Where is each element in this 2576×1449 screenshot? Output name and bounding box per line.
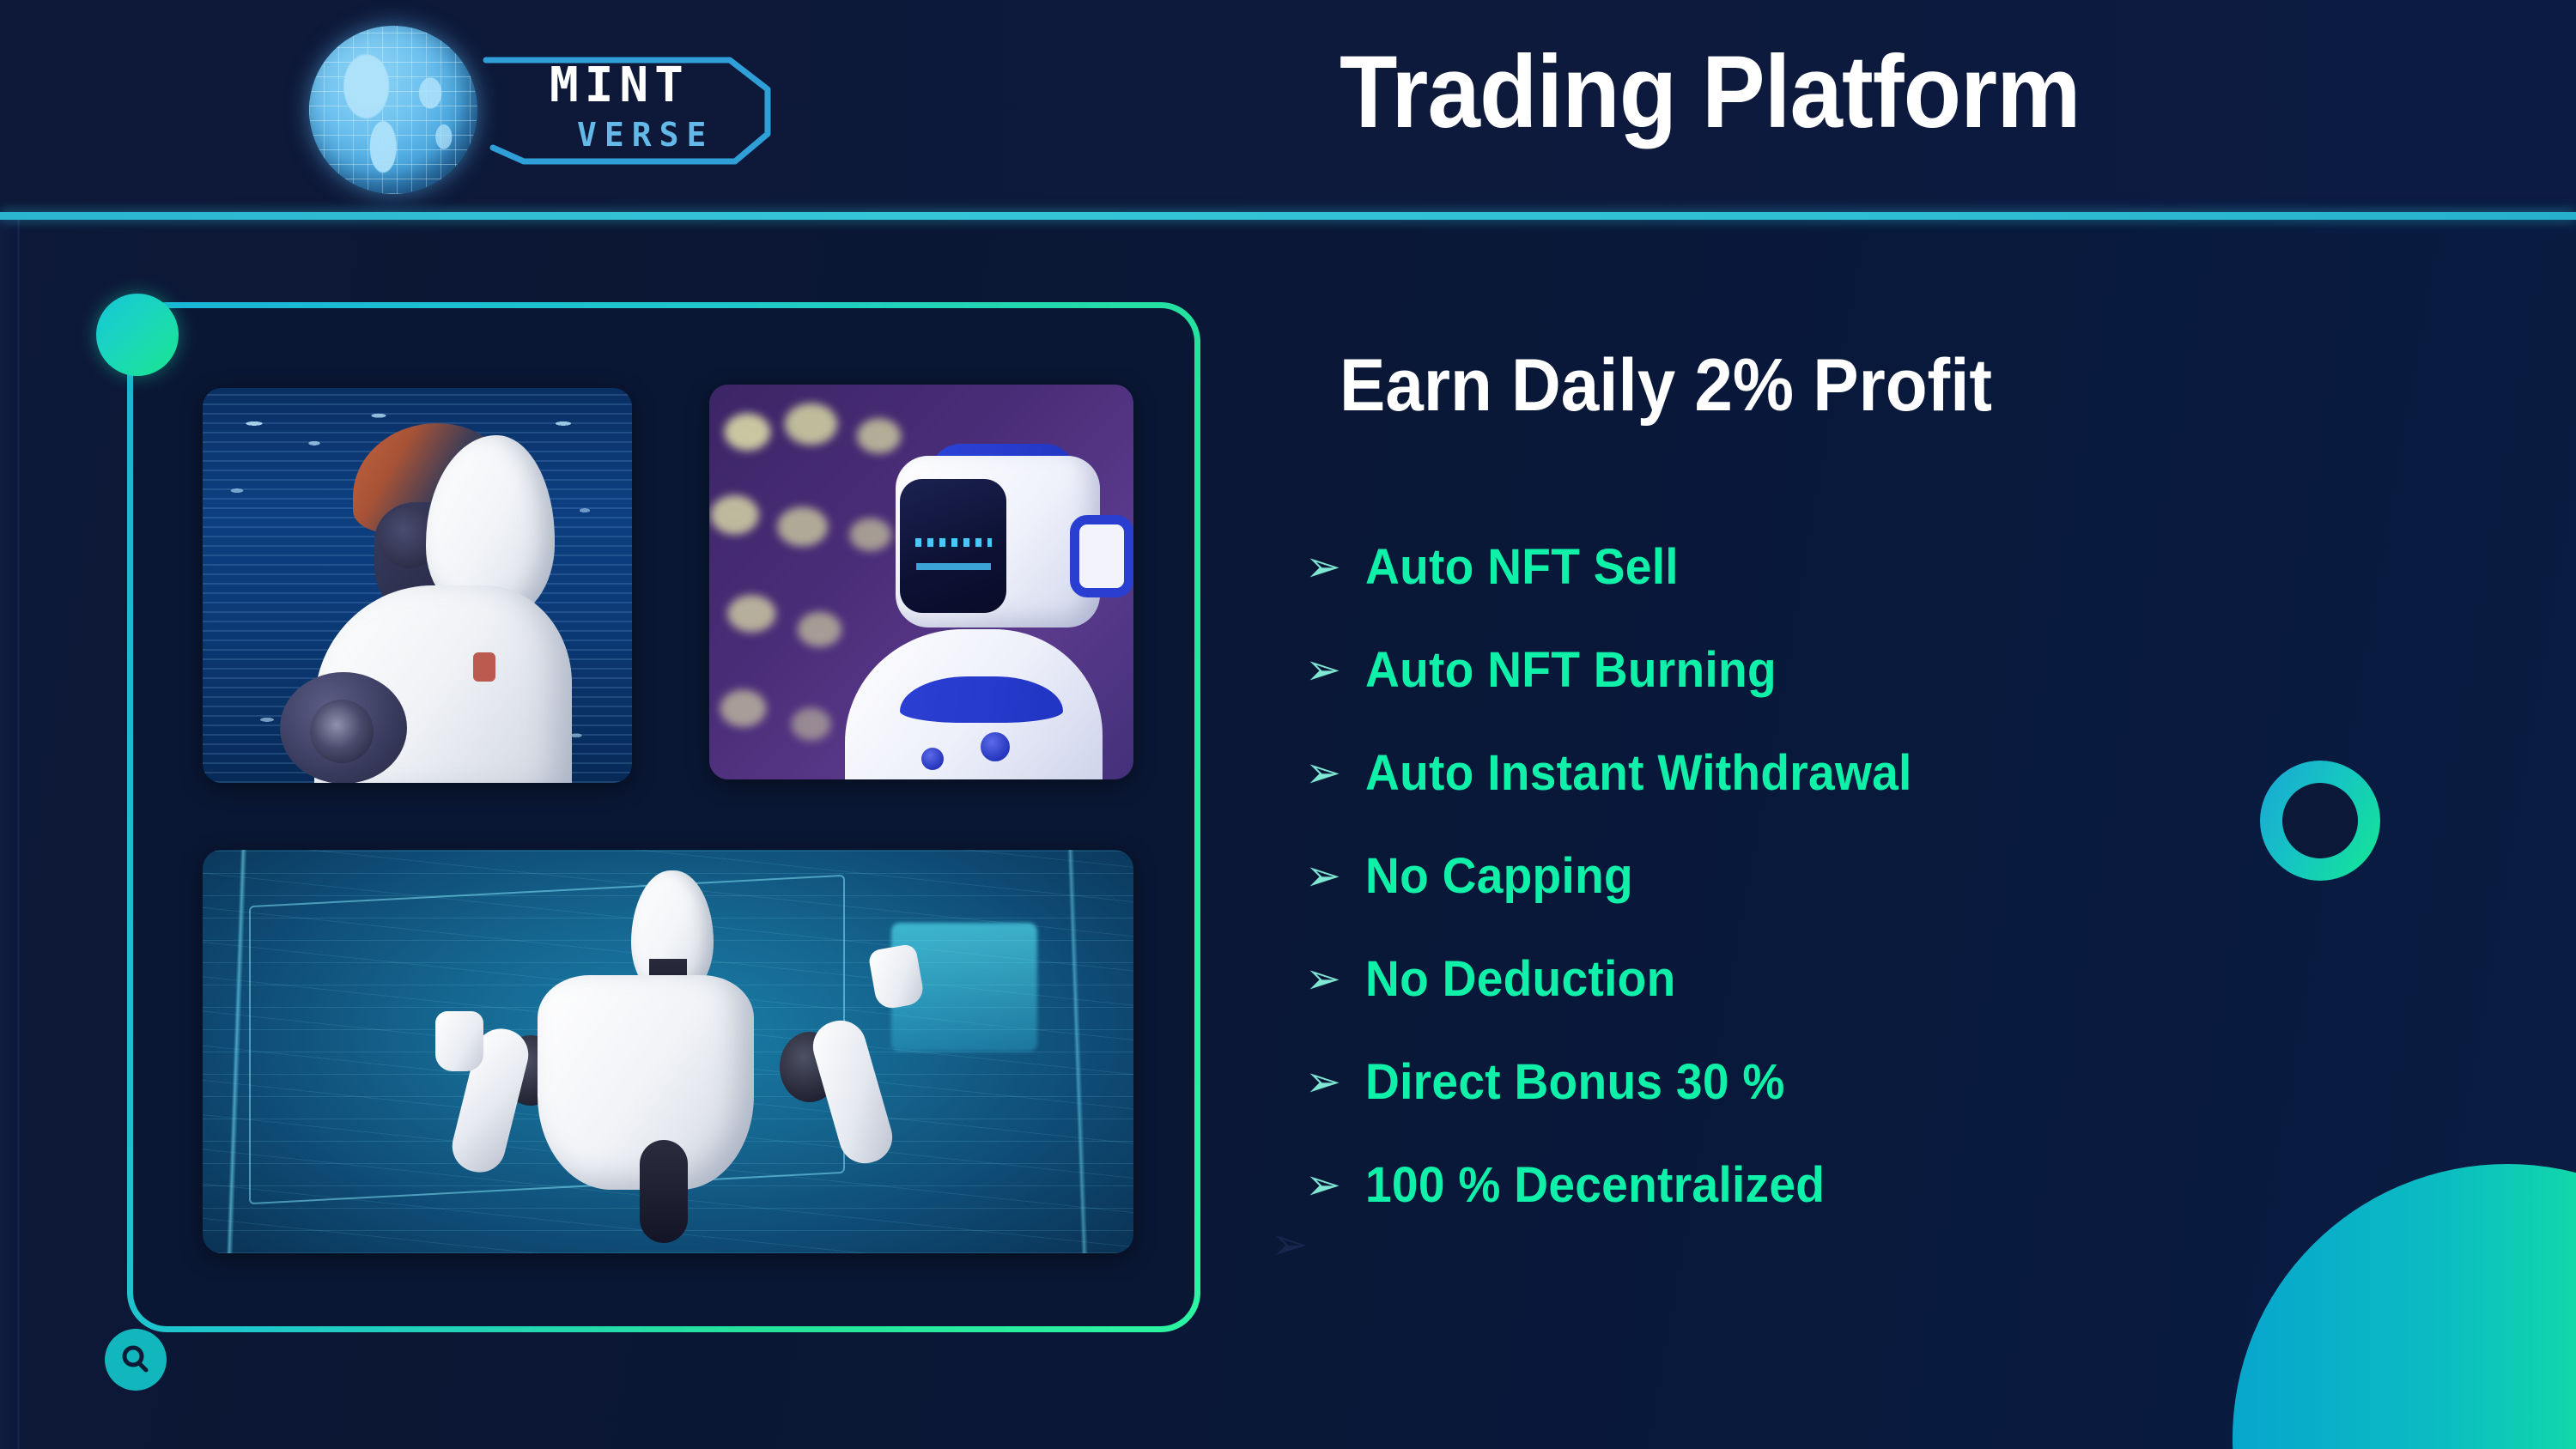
gradient-dot-icon [96,294,179,376]
empty-bullet-placeholder-icon: ➢ [1271,1219,1309,1270]
header-bar: MINT VERSE Trading Platform [0,0,2576,215]
list-item[interactable]: ➢ No Deduction [1305,927,2507,1030]
brand-logo[interactable]: MINT VERSE [301,19,781,195]
feature-label: No Capping [1365,847,1633,905]
robot-profile-thumbnail[interactable] [203,388,632,783]
section-subheading: Earn Daily 2% Profit [1340,343,1992,428]
list-item[interactable]: ➢ Auto NFT Sell [1305,515,2507,618]
chevron-right-icon: ➢ [1305,751,1365,794]
chevron-right-icon: ➢ [1305,1163,1365,1206]
search-icon[interactable] [105,1329,167,1391]
list-item[interactable]: ➢ Direct Bonus 30 % [1305,1030,2507,1133]
chevron-right-icon: ➢ [1305,1060,1365,1103]
list-item[interactable]: ➢ 100 % Decentralized [1305,1133,2507,1236]
toy-robot-thumbnail[interactable] [709,385,1133,779]
chevron-right-icon: ➢ [1305,854,1365,897]
feature-label: Auto NFT Sell [1365,538,1679,596]
feature-label: No Deduction [1365,950,1676,1008]
feature-label: 100 % Decentralized [1365,1156,1825,1214]
header-divider [0,212,2576,220]
robot-hologram-thumbnail[interactable] [203,850,1133,1253]
chevron-right-icon: ➢ [1305,545,1365,588]
page-title: Trading Platform [1340,33,2080,151]
logo-word-verse: VERSE [577,118,714,151]
globe-icon [309,26,477,194]
list-item[interactable]: ➢ Auto NFT Burning [1305,618,2507,721]
slide-root: MINT VERSE Trading Platform [0,0,2576,1449]
feature-label: Auto Instant Withdrawal [1365,744,1912,802]
feature-label: Direct Bonus 30 % [1365,1053,1785,1111]
chevron-right-icon: ➢ [1305,957,1365,1000]
gradient-ring-icon [2260,761,2380,881]
chevron-right-icon: ➢ [1305,648,1365,691]
logo-word-mint: MINT [550,62,690,110]
feature-label: Auto NFT Burning [1365,641,1777,699]
